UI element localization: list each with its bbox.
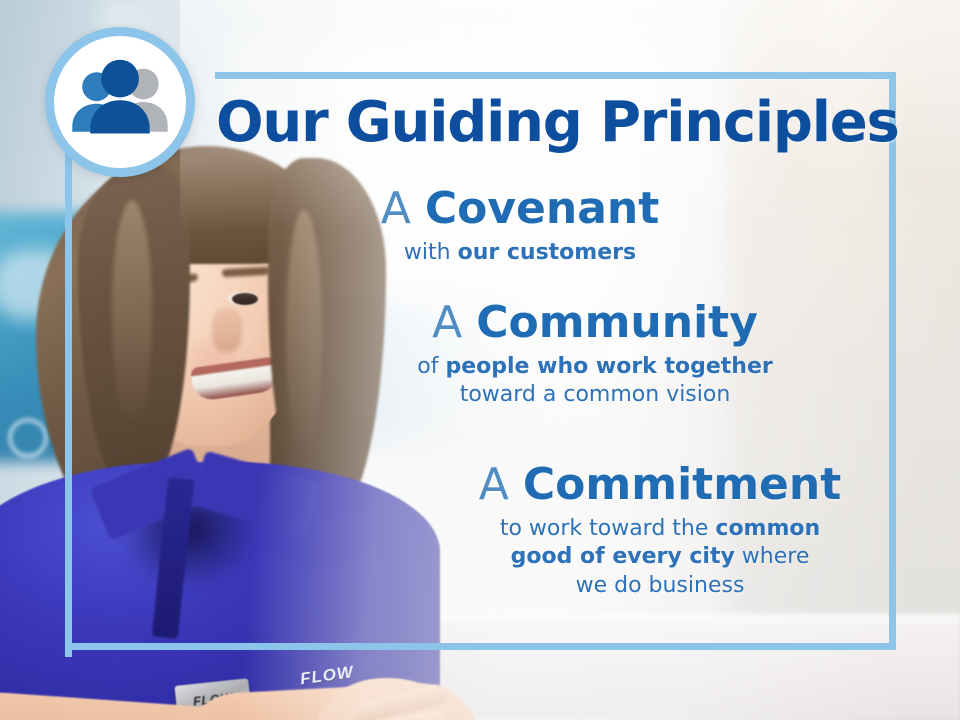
subtext-regular: we do business <box>576 573 745 598</box>
principles-list: A Covenant with our customers A Communit… <box>0 0 960 720</box>
principle-headline: A Community <box>345 300 845 347</box>
subtext-regular: to work toward the <box>500 516 716 541</box>
principle-subtext: with our customers <box>300 239 740 268</box>
subtext-regular: of <box>417 354 445 379</box>
principle-commitment: A Commitment to work toward the common g… <box>410 462 910 600</box>
principle-word: Commitment <box>523 459 841 510</box>
principle-word: Community <box>476 297 758 348</box>
principle-word: Covenant <box>425 183 659 234</box>
principle-community: A Community of people who work together … <box>345 300 845 410</box>
principle-covenant: A Covenant with our customers <box>300 186 740 267</box>
principle-headline: A Commitment <box>410 462 910 509</box>
principle-article: A <box>381 183 411 234</box>
guiding-principles-graphic: FLOW FLOW <box>0 0 960 720</box>
subtext-bold: our customers <box>458 240 637 265</box>
subtext-bold: people who work together <box>445 354 772 379</box>
subtext-regular: toward a common vision <box>460 382 731 407</box>
subtext-bold: common <box>715 516 820 541</box>
principle-headline: A Covenant <box>300 186 740 233</box>
principle-subtext: of people who work together toward a com… <box>345 353 845 410</box>
principle-subtext: to work toward the common good of every … <box>410 515 910 601</box>
principle-article: A <box>432 297 462 348</box>
subtext-regular: with <box>404 240 458 265</box>
subtext-bold: good of every city <box>511 544 735 569</box>
principle-article: A <box>479 459 509 510</box>
subtext-regular: where <box>735 544 810 569</box>
